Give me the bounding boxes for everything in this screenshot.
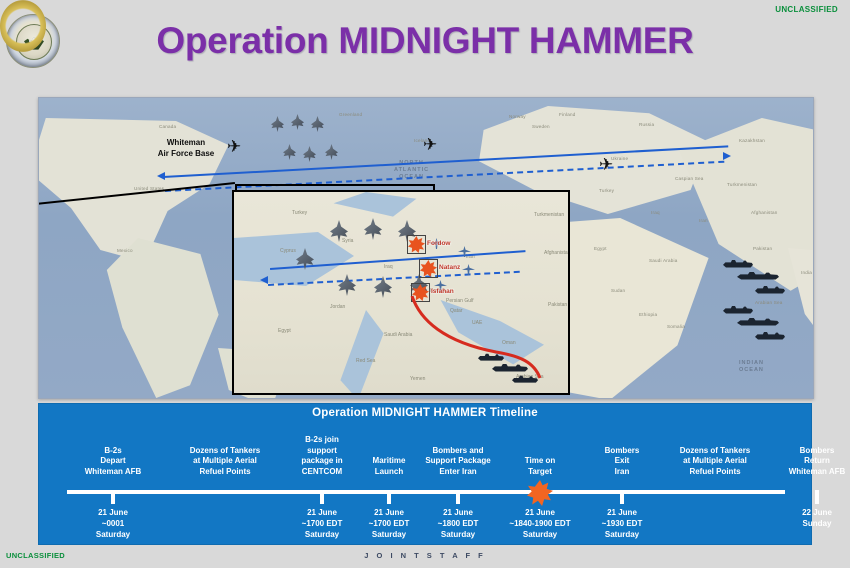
operation-map-inset: TurkeySyriaIraqIranJordanSaudi ArabiaEgy… (232, 190, 570, 395)
map-geo-label: Saudi Arabia (649, 258, 677, 263)
strike-target-label: Fordow (427, 240, 450, 247)
inset-geo-label: UAE (472, 320, 482, 326)
timeline-date-label: 21 June~1930 EDTSaturday (572, 508, 672, 540)
map-geo-label: Turkmenistan (727, 182, 757, 187)
whiteman-afb-label: WhitemanAir Force Base (141, 138, 231, 160)
timeline-tick (815, 490, 819, 504)
map-geo-label: Sweden (532, 124, 550, 129)
map-geo-label: Sudan (611, 288, 625, 293)
map-geo-label: Somalia (667, 324, 685, 329)
timeline-title: Operation MIDNIGHT HAMMER Timeline (39, 404, 811, 419)
inset-geo-label: Yemen (410, 376, 425, 382)
inset-geo-label: Turkmenistan (534, 212, 564, 218)
naval-vessel-icon (723, 304, 753, 315)
route-arrow-west (157, 172, 165, 180)
inset-geo-label: Cyprus (280, 248, 296, 254)
tanker-aircraft-icon: ✈ (599, 156, 613, 173)
landmass-central-america (99, 238, 229, 398)
map-geo-label: Finland (559, 112, 575, 117)
timeline-tick (620, 490, 624, 504)
b2-bomber-icon (338, 274, 356, 296)
timeline-tick (320, 490, 324, 504)
red-sea (326, 310, 406, 395)
map-geo-label: Ukraine (611, 156, 628, 161)
map-geo-label: Ethiopia (639, 312, 657, 317)
timeline-event-label: Dozens of Tankersat Multiple AerialRefue… (177, 446, 273, 478)
classification-marking-top: UNCLASSIFIED (775, 5, 838, 14)
map-geo-label: Afghanistan (751, 210, 777, 215)
b2-bomber-icon (311, 116, 324, 132)
organization-footer: J O I N T S T A F F (364, 551, 485, 560)
timeline-event-label: BombersReturnWhiteman AFB (769, 446, 850, 478)
b2-bomber-icon (364, 218, 382, 240)
map-geo-label: Norway (509, 114, 526, 119)
inset-geo-label: Qatar (450, 308, 463, 314)
b2-bomber-icon (271, 116, 284, 132)
time-on-target-burst-icon (527, 480, 553, 506)
map-geo-label: Egypt (594, 246, 607, 251)
inset-geo-label: Pakistan (548, 302, 567, 308)
map-geo-label: Greenland (339, 112, 362, 117)
tanker-aircraft-icon: ✈ (423, 136, 437, 153)
inset-geo-label: Afghanistan (544, 250, 570, 256)
map-geo-label: Iraq (651, 210, 660, 215)
map-geo-label: India (801, 270, 812, 275)
inset-geo-label: Jordan (330, 304, 345, 310)
b2-bomber-icon (325, 144, 338, 160)
page-title: Operation MIDNIGHT HAMMER (0, 20, 850, 62)
b2-bomber-icon (283, 144, 296, 160)
timeline-event-label: B-2sDepartWhiteman AFB (65, 446, 161, 478)
naval-vessel-icon (755, 330, 785, 341)
strike-target-label: Isfahan (431, 288, 454, 295)
inset-geo-label: Iraq (384, 264, 393, 270)
map-geo-label: Kazakhstan (739, 138, 765, 143)
map-geo-label: Turkey (599, 188, 614, 193)
inset-route-arrow-west (260, 276, 268, 284)
timeline-tick (456, 490, 460, 504)
inset-geo-label: Saudi Arabia (384, 332, 412, 338)
naval-vessel-icon (492, 362, 528, 373)
timeline-event-label: BombersExitIran (574, 446, 670, 478)
classification-marking-bottom: UNCLASSIFIED (6, 551, 65, 560)
map-geo-label: Canada (159, 124, 176, 129)
map-geo-label: Arabian Sea (755, 300, 782, 305)
timeline-date-label: 22 JuneSunday (767, 508, 850, 530)
maritime-launch-track (234, 192, 570, 395)
map-geo-label: Mexico (117, 248, 133, 253)
timeline-tick (387, 490, 391, 504)
inset-geo-label: Syria (342, 238, 353, 244)
inset-geo-label: Egypt (278, 328, 291, 334)
inset-geo-label: Red Sea (356, 358, 375, 364)
timeline-tick (111, 490, 115, 504)
timeline-axis (67, 490, 785, 494)
route-arrow-east (723, 152, 731, 160)
naval-vessel-icon (737, 316, 779, 327)
black-sea (330, 192, 420, 220)
map-geo-label: Iran (699, 218, 708, 223)
timeline-event-labels: B-2sDepartWhiteman AFBDozens of Tankersa… (39, 426, 813, 478)
timeline-event-label: Dozens of Tankersat Multiple AerialRefue… (667, 446, 763, 478)
b2-bomber-icon (303, 146, 316, 162)
b2-bomber-icon (291, 114, 304, 130)
inset-geo-label: Turkey (292, 210, 307, 216)
map-geo-label: Caspian Sea (675, 176, 704, 181)
map-geo-label: Russia (639, 122, 654, 127)
operation-timeline: Operation MIDNIGHT HAMMER Timeline B-2sD… (38, 403, 812, 545)
strike-target-label: Natanz (439, 264, 460, 271)
map-geo-label: Pakistan (753, 246, 772, 251)
timeline-date-label: 21 June~0001Saturday (63, 508, 163, 540)
inset-geo-label: Oman (502, 340, 516, 346)
map-ocean-label: INDIANOCEAN (739, 360, 764, 374)
inset-geo-label: Persian Gulf (446, 298, 474, 304)
naval-vessel-icon (755, 284, 785, 295)
